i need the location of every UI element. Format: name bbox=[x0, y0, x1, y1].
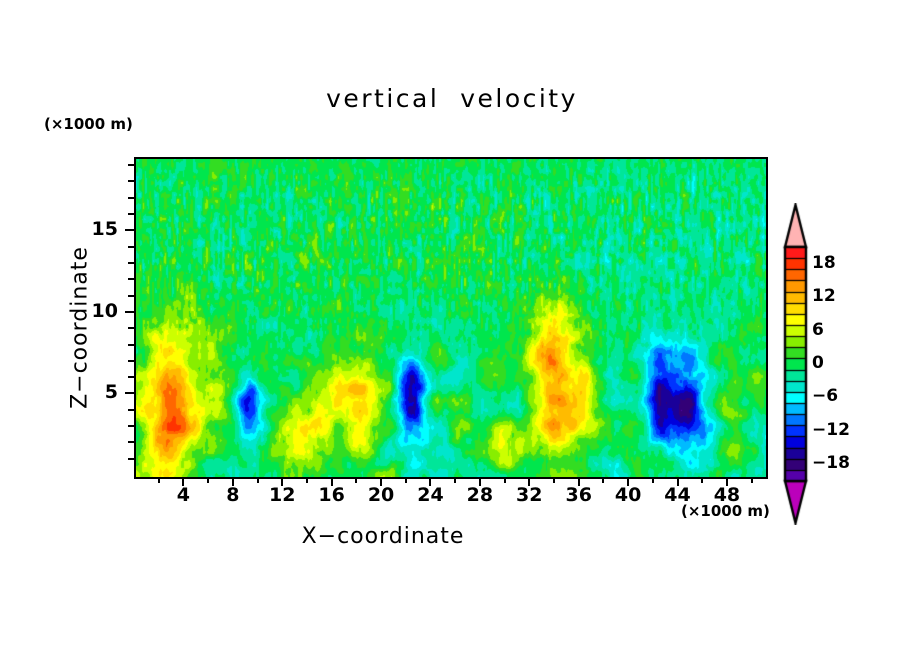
y-axis-minor-tick bbox=[128, 409, 134, 411]
colorbar-tick-label: −12 bbox=[812, 420, 850, 440]
y-axis-minor-tick bbox=[128, 278, 134, 280]
x-axis-minor-tick bbox=[504, 477, 506, 483]
y-axis-minor-tick bbox=[128, 164, 134, 166]
x-axis-minor-tick bbox=[207, 477, 209, 483]
colorbar-tick-label: 0 bbox=[812, 353, 824, 373]
x-axis-minor-tick bbox=[306, 477, 308, 483]
y-axis-minor-tick bbox=[128, 376, 134, 378]
colorbar-tick-label: 12 bbox=[812, 286, 836, 306]
x-axis-minor-tick bbox=[701, 477, 703, 483]
x-axis-tick-label: 48 bbox=[697, 484, 757, 506]
x-axis-minor-tick bbox=[454, 477, 456, 483]
y-axis-tick bbox=[125, 392, 134, 394]
y-axis-tick-label: 10 bbox=[74, 300, 118, 322]
x-axis-minor-tick bbox=[257, 477, 259, 483]
y-axis-minor-tick bbox=[128, 262, 134, 264]
colorbar-tick-label: 18 bbox=[812, 253, 836, 273]
colorbar-tick-label: 6 bbox=[812, 320, 824, 340]
x-axis-minor-tick bbox=[355, 477, 357, 483]
x-axis-minor-tick bbox=[602, 477, 604, 483]
x-axis-minor-tick bbox=[158, 477, 160, 483]
x-axis-minor-tick bbox=[751, 477, 753, 483]
x-axis-minor-tick bbox=[405, 477, 407, 483]
colorbar-tick-label: −18 bbox=[812, 453, 850, 473]
y-axis-tick bbox=[125, 311, 134, 313]
y-axis-title: Z−coordinate bbox=[68, 218, 93, 438]
y-axis-minor-tick bbox=[128, 458, 134, 460]
y-axis-minor-tick bbox=[128, 441, 134, 443]
y-axis-minor-tick bbox=[128, 213, 134, 215]
y-axis-units-label: (×1000 m) bbox=[44, 115, 133, 133]
y-axis-tick-label: 5 bbox=[74, 381, 118, 403]
y-axis-minor-tick bbox=[128, 246, 134, 248]
y-axis-minor-tick bbox=[128, 360, 134, 362]
page-title: vertical velocity bbox=[0, 84, 904, 113]
y-axis-tick bbox=[125, 229, 134, 231]
y-axis-minor-tick bbox=[128, 295, 134, 297]
vertical-velocity-field bbox=[136, 159, 766, 477]
y-axis-tick-label: 15 bbox=[74, 218, 118, 240]
y-axis-minor-tick bbox=[128, 344, 134, 346]
y-axis-minor-tick bbox=[128, 425, 134, 427]
x-axis-minor-tick bbox=[652, 477, 654, 483]
y-axis-minor-tick bbox=[128, 197, 134, 199]
x-axis-title: X−coordinate bbox=[0, 524, 766, 549]
figure-canvas: vertical velocity (×1000 m) (×1000 m) X−… bbox=[0, 0, 904, 654]
y-axis-minor-tick bbox=[128, 327, 134, 329]
x-axis-minor-tick bbox=[553, 477, 555, 483]
colorbar-gradient bbox=[779, 203, 813, 525]
contour-plot-area bbox=[134, 157, 768, 479]
y-axis-minor-tick bbox=[128, 180, 134, 182]
colorbar-tick-label: −6 bbox=[812, 386, 838, 406]
